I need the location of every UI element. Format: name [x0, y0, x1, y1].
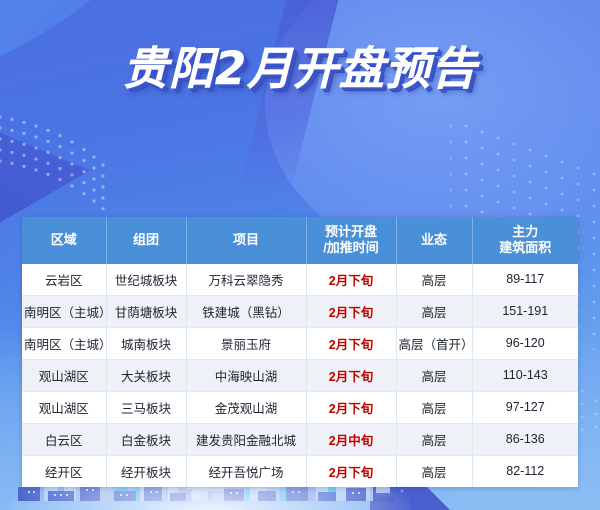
- cell-format: 高层: [396, 423, 472, 455]
- cell-project: 景丽玉府: [186, 327, 306, 359]
- table-row: 观山湖区 三马板块 金茂观山湖 2月下旬 高层 97-127: [22, 391, 578, 423]
- cell-open-time: 2月下旬: [306, 359, 396, 391]
- cell-open-time: 2月中旬: [306, 423, 396, 455]
- column-header-project: 项目: [186, 217, 306, 264]
- cell-main-area: 82-112: [472, 455, 578, 487]
- column-header-format: 业态: [396, 217, 472, 264]
- cell-main-area: 86-136: [472, 423, 578, 455]
- cell-project: 铁建城（黑钻）: [186, 295, 306, 327]
- poster-title-container: 贵阳2月开盘预告: [0, 46, 600, 91]
- poster-title: 贵阳2月开盘预告: [123, 46, 477, 91]
- cell-format: 高层: [396, 264, 472, 296]
- opening-schedule-table-container: 区域 组团 项目 预计开盘 /加推时间 业态 主力 建筑面积 云岩区: [22, 217, 578, 487]
- cell-group: 经开板块: [106, 455, 186, 487]
- cell-open-time: 2月下旬: [306, 295, 396, 327]
- cell-main-area: 89-117: [472, 264, 578, 296]
- column-header-main-area-line1: 主力: [512, 224, 538, 239]
- table-body: 云岩区 世纪城板块 万科云翠隐秀 2月下旬 高层 89-117 南明区（主城） …: [22, 264, 578, 487]
- cell-group: 大关板块: [106, 359, 186, 391]
- cell-main-area: 151-191: [472, 295, 578, 327]
- cell-open-time: 2月下旬: [306, 391, 396, 423]
- cell-format: 高层: [396, 455, 472, 487]
- column-header-open-time-line2: /加推时间: [323, 240, 379, 255]
- cell-format: 高层: [396, 391, 472, 423]
- cell-format: 高层: [396, 295, 472, 327]
- cell-main-area: 110-143: [472, 359, 578, 391]
- cell-group: 甘荫塘板块: [106, 295, 186, 327]
- cell-group: 白金板块: [106, 423, 186, 455]
- cell-area: 经开区: [22, 455, 106, 487]
- cell-area: 观山湖区: [22, 391, 106, 423]
- column-header-main-area-line2: 建筑面积: [499, 240, 551, 255]
- cell-open-time: 2月下旬: [306, 327, 396, 359]
- cell-group: 城南板块: [106, 327, 186, 359]
- poster-canvas: 贵阳2月开盘预告: [0, 0, 600, 510]
- cell-main-area: 97-127: [472, 391, 578, 423]
- cell-area: 南明区（主城）: [22, 327, 106, 359]
- table-header-row: 区域 组团 项目 预计开盘 /加推时间 业态 主力 建筑面积: [22, 217, 578, 264]
- cell-project: 金茂观山湖: [186, 391, 306, 423]
- cell-open-time: 2月下旬: [306, 455, 396, 487]
- cell-group: 世纪城板块: [106, 264, 186, 296]
- column-header-group: 组团: [106, 217, 186, 264]
- cell-project: 建发贵阳金融北城: [186, 423, 306, 455]
- cell-format: 高层（首开）: [396, 327, 472, 359]
- cell-area: 白云区: [22, 423, 106, 455]
- cell-main-area: 96-120: [472, 327, 578, 359]
- table-row: 经开区 经开板块 经开吾悦广场 2月下旬 高层 82-112: [22, 455, 578, 487]
- cell-area: 观山湖区: [22, 359, 106, 391]
- dotted-arc-decoration-icon: [0, 115, 114, 210]
- table-header: 区域 组团 项目 预计开盘 /加推时间 业态 主力 建筑面积: [22, 217, 578, 264]
- cell-group: 三马板块: [106, 391, 186, 423]
- table-row: 白云区 白金板块 建发贵阳金融北城 2月中旬 高层 86-136: [22, 423, 578, 455]
- table-row: 云岩区 世纪城板块 万科云翠隐秀 2月下旬 高层 89-117: [22, 264, 578, 296]
- column-header-open-time-line1: 预计开盘: [325, 224, 377, 239]
- cell-project: 经开吾悦广场: [186, 455, 306, 487]
- cell-area: 云岩区: [22, 264, 106, 296]
- cell-project: 中海映山湖: [186, 359, 306, 391]
- table-row: 南明区（主城） 甘荫塘板块 铁建城（黑钻） 2月下旬 高层 151-191: [22, 295, 578, 327]
- table-row: 观山湖区 大关板块 中海映山湖 2月下旬 高层 110-143: [22, 359, 578, 391]
- column-header-open-time: 预计开盘 /加推时间: [306, 217, 396, 264]
- cell-area: 南明区（主城）: [22, 295, 106, 327]
- cell-format: 高层: [396, 359, 472, 391]
- cell-project: 万科云翠隐秀: [186, 264, 306, 296]
- opening-schedule-table: 区域 组团 项目 预计开盘 /加推时间 业态 主力 建筑面积 云岩区: [22, 217, 578, 487]
- table-row: 南明区（主城） 城南板块 景丽玉府 2月下旬 高层（首开） 96-120: [22, 327, 578, 359]
- column-header-main-area: 主力 建筑面积: [472, 217, 578, 264]
- column-header-area: 区域: [22, 217, 106, 264]
- cell-open-time: 2月下旬: [306, 264, 396, 296]
